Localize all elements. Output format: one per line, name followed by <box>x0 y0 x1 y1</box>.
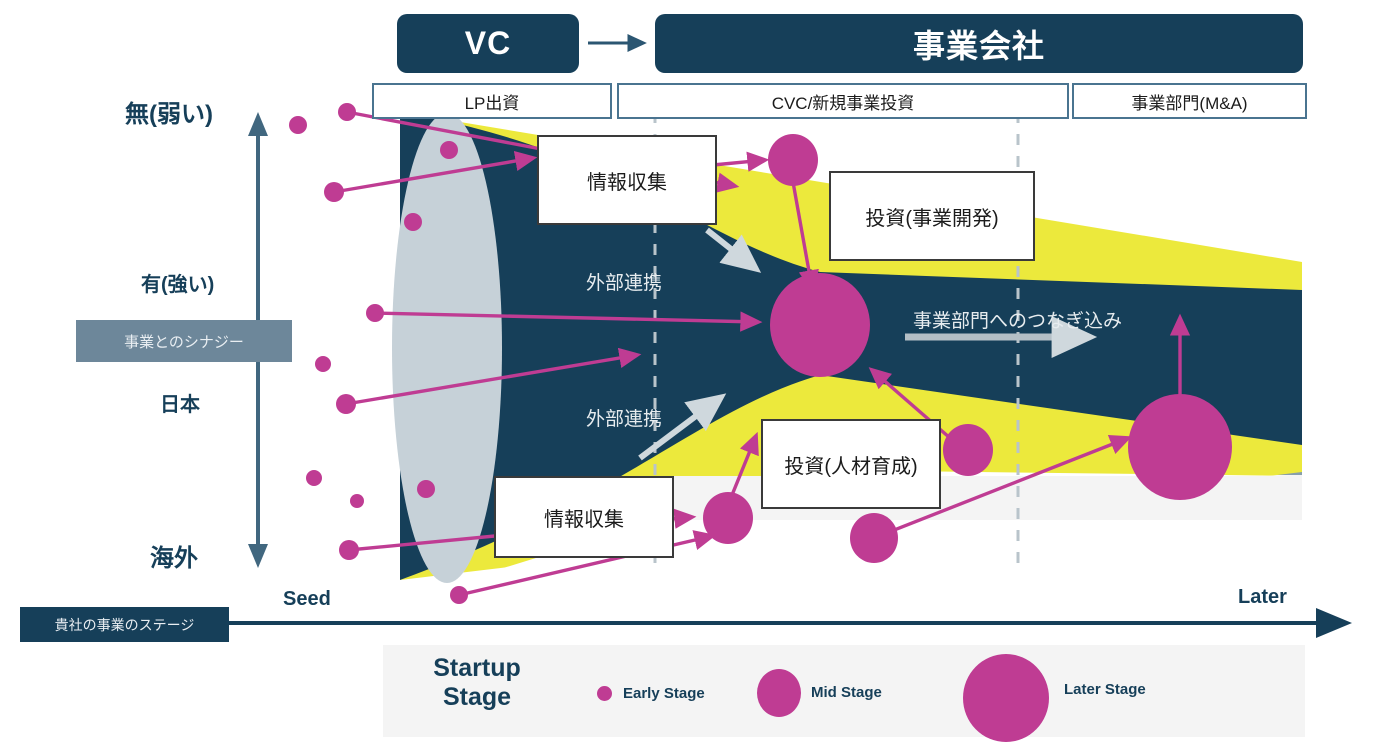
y-axis-label-bottom: 海外 <box>150 538 198 573</box>
funnel-label-handoff: 事業部門へのつなぎ込み <box>913 306 1122 333</box>
corporate-pill[interactable]: 事業会社 <box>655 14 1303 73</box>
x-axis-tag: 貴社の事業のステージ <box>20 607 229 642</box>
legend-label-early: Early Stage <box>623 685 705 702</box>
diagram-canvas: VC 事業会社 LP出資 CVC/新規事業投資 事業部門(M&A) 無(弱い) … <box>0 0 1381 748</box>
y-axis-label-lower-mid: 日本 <box>160 388 200 417</box>
legend-title-line1: Startup <box>417 654 537 683</box>
callout-invest-talent-development[interactable]: 投資(人材育成) <box>761 419 941 509</box>
x-axis-label-seed: Seed <box>283 588 331 611</box>
column-header-ma[interactable]: 事業部門(M&A) <box>1072 83 1307 119</box>
y-axis-label-top: 無(弱い) <box>125 94 213 129</box>
funnel-label-external-upper: 外部連携 <box>586 268 662 295</box>
funnel-label-external-lower: 外部連携 <box>586 404 662 431</box>
column-header-cvc[interactable]: CVC/新規事業投資 <box>617 83 1069 119</box>
seed-pool-ellipse <box>392 113 502 583</box>
column-header-lp[interactable]: LP出資 <box>372 83 612 119</box>
callout-invest-business-development[interactable]: 投資(事業開発) <box>829 171 1035 261</box>
legend-title-line2: Stage <box>417 683 537 712</box>
callout-info-upper[interactable]: 情報収集 <box>537 135 717 225</box>
vc-pill[interactable]: VC <box>397 14 579 73</box>
flow-arrows <box>334 112 1180 595</box>
external-link-arrow-upper <box>707 230 755 268</box>
legend-title: Startup Stage <box>417 654 537 712</box>
legend-dot-early <box>597 686 612 701</box>
legend-label-later: Later Stage <box>1064 681 1146 698</box>
x-axis-label-later: Later <box>1238 586 1287 609</box>
startup-dots <box>289 103 1232 604</box>
legend-dot-later <box>963 654 1049 742</box>
legend-dot-mid <box>757 669 801 717</box>
legend-label-mid: Mid Stage <box>811 684 882 701</box>
y-axis-label-upper-mid: 有(強い) <box>141 268 214 297</box>
y-axis-band-label: 事業とのシナジー <box>76 320 292 362</box>
lower-shade <box>645 395 1302 475</box>
callout-info-lower[interactable]: 情報収集 <box>494 476 674 558</box>
lower-panel-restore <box>645 476 1302 520</box>
lower-panel <box>645 395 1302 520</box>
